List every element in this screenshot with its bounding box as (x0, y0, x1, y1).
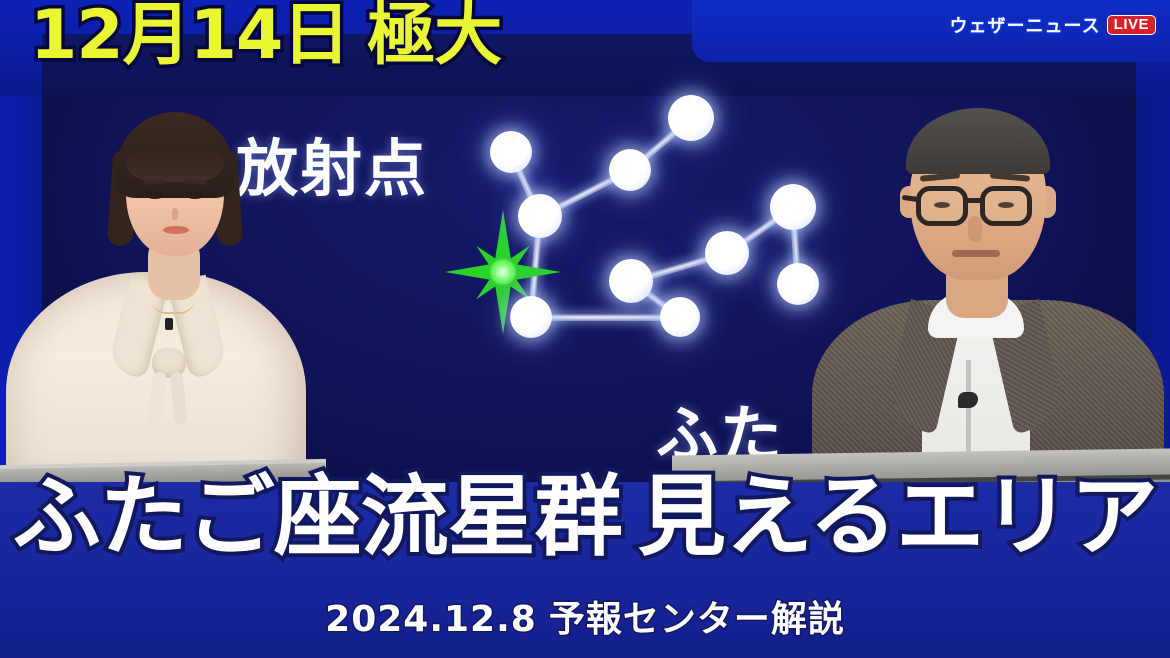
star-s6 (609, 259, 653, 303)
male-lapel-mic (958, 392, 978, 408)
star-s4 (609, 149, 651, 191)
star-s5 (668, 95, 714, 141)
star-s3 (510, 296, 552, 338)
star-s9 (770, 184, 816, 230)
male-nose (968, 216, 982, 242)
banner-date: 2024.12.8 (325, 599, 537, 640)
male-glasses-lens-left (916, 186, 968, 226)
banner-program: 予報センター解説 (549, 599, 845, 640)
radiant-point-label: 放射点 (236, 118, 428, 208)
female-bangs (126, 144, 224, 182)
star-s1 (490, 131, 532, 173)
female-eye-right (186, 192, 204, 199)
channel-name-text: ウェザーニュース (950, 12, 1101, 38)
female-eye-left (146, 192, 164, 199)
headline-date: 12月14日 (30, 0, 349, 75)
broadcast-frame: 放射点 ふた (0, 0, 1170, 658)
star-s7 (660, 297, 700, 337)
live-badge: LIVE (1107, 15, 1156, 36)
headline-term: 極大 (367, 0, 501, 75)
radiant-core (490, 259, 516, 285)
female-mouth (163, 226, 189, 234)
banner-subtitle: 2024.12.8予報センター解説 (0, 590, 1170, 642)
male-glasses-bridge (966, 198, 984, 203)
female-lapel-mic (165, 318, 173, 330)
star-s2 (518, 194, 562, 238)
female-nose (172, 208, 178, 220)
channel-logo[interactable]: ウェザーニュース LIVE (950, 12, 1156, 38)
male-glasses-lens-right (980, 186, 1032, 226)
headline-banner: 12月14日極大 (30, 2, 501, 70)
lower-third-banner: ふたご座流星群見えるエリア 2024.12.8予報センター解説 (0, 482, 1170, 658)
star-s10 (777, 263, 819, 305)
male-mouth (952, 250, 1000, 257)
star-s8 (705, 231, 749, 275)
banner-title-sub: 見えるエリア (638, 465, 1157, 568)
banner-title-main: ふたご座流星群 (13, 465, 622, 568)
banner-title: ふたご座流星群見えるエリア (0, 472, 1170, 562)
